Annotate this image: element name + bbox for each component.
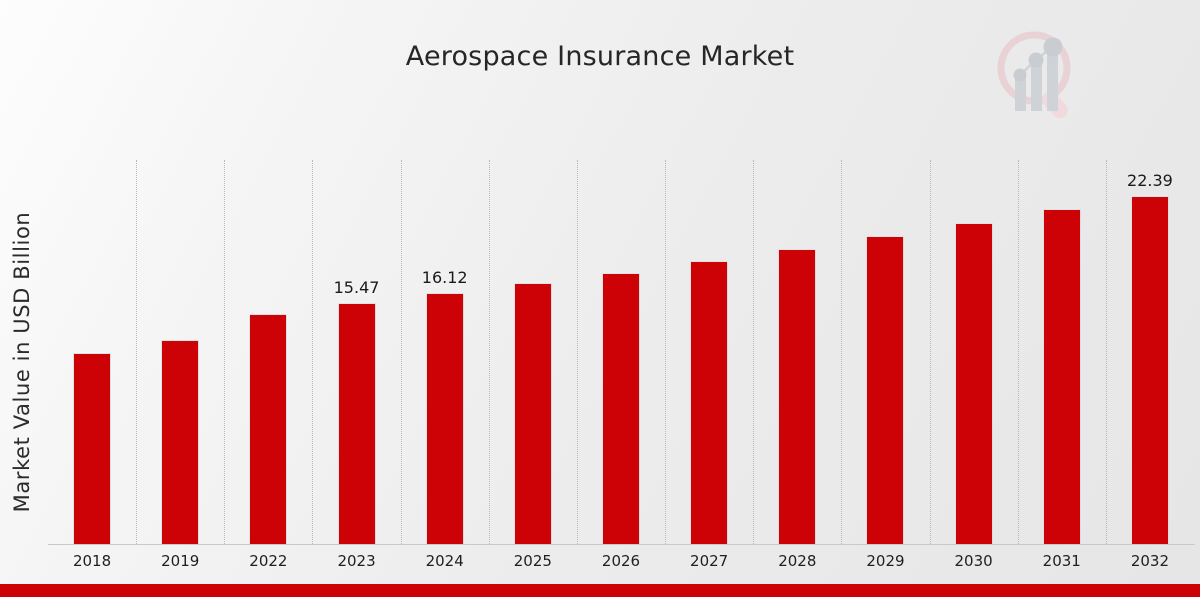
bar-group bbox=[1018, 160, 1106, 545]
bar-2028[interactable] bbox=[778, 249, 816, 544]
chart-figure: Aerospace Insurance Market Market Value … bbox=[0, 0, 1200, 600]
bar-2026[interactable] bbox=[602, 273, 640, 544]
bar-group bbox=[930, 160, 1018, 545]
x-tick-label-2030: 2030 bbox=[955, 552, 993, 570]
bar-group bbox=[753, 160, 841, 545]
bar-2032[interactable] bbox=[1131, 196, 1169, 544]
plot-area bbox=[48, 160, 1194, 545]
bar-value-label-2032: 22.39 bbox=[1127, 171, 1173, 190]
x-tick-label-2018: 2018 bbox=[73, 552, 111, 570]
bar-group bbox=[1106, 160, 1194, 545]
bar-2018[interactable] bbox=[73, 353, 111, 544]
bar-group bbox=[224, 160, 312, 545]
x-tick-label-2029: 2029 bbox=[866, 552, 904, 570]
bar-group bbox=[312, 160, 400, 545]
bottom-accent-strip bbox=[0, 584, 1200, 597]
x-tick-label-2024: 2024 bbox=[426, 552, 464, 570]
magnifier-bar-chart-icon bbox=[986, 24, 1090, 124]
x-tick-label-2026: 2026 bbox=[602, 552, 640, 570]
bar-group bbox=[577, 160, 665, 545]
x-tick-label-2019: 2019 bbox=[161, 552, 199, 570]
x-tick-label-2022: 2022 bbox=[249, 552, 287, 570]
bar-2019[interactable] bbox=[161, 340, 199, 544]
bar-group bbox=[841, 160, 929, 545]
bar-2024[interactable] bbox=[426, 293, 464, 544]
bar-2030[interactable] bbox=[955, 223, 993, 544]
bar-2025[interactable] bbox=[514, 283, 552, 544]
x-tick-label-2023: 2023 bbox=[337, 552, 375, 570]
bar-2023[interactable] bbox=[338, 303, 376, 544]
bar-2027[interactable] bbox=[690, 261, 728, 544]
x-tick-label-2025: 2025 bbox=[514, 552, 552, 570]
bar-2029[interactable] bbox=[866, 236, 904, 544]
bar-value-label-2024: 16.12 bbox=[422, 268, 468, 287]
x-tick-label-2032: 2032 bbox=[1131, 552, 1169, 570]
bar-2022[interactable] bbox=[249, 314, 287, 544]
bar-group bbox=[489, 160, 577, 545]
bar-group bbox=[401, 160, 489, 545]
x-tick-label-2027: 2027 bbox=[690, 552, 728, 570]
bar-group bbox=[665, 160, 753, 545]
y-axis-title: Market Value in USD Billion bbox=[10, 112, 34, 612]
bar-group bbox=[48, 160, 136, 545]
bar-value-label-2023: 15.47 bbox=[334, 278, 380, 297]
x-axis-line bbox=[48, 544, 1195, 545]
page-title: Aerospace Insurance Market bbox=[0, 41, 1200, 72]
x-tick-label-2028: 2028 bbox=[778, 552, 816, 570]
bar-group bbox=[136, 160, 224, 545]
x-tick-label-2031: 2031 bbox=[1043, 552, 1081, 570]
bar-2031[interactable] bbox=[1043, 209, 1081, 544]
watermark-logo bbox=[986, 24, 1090, 124]
